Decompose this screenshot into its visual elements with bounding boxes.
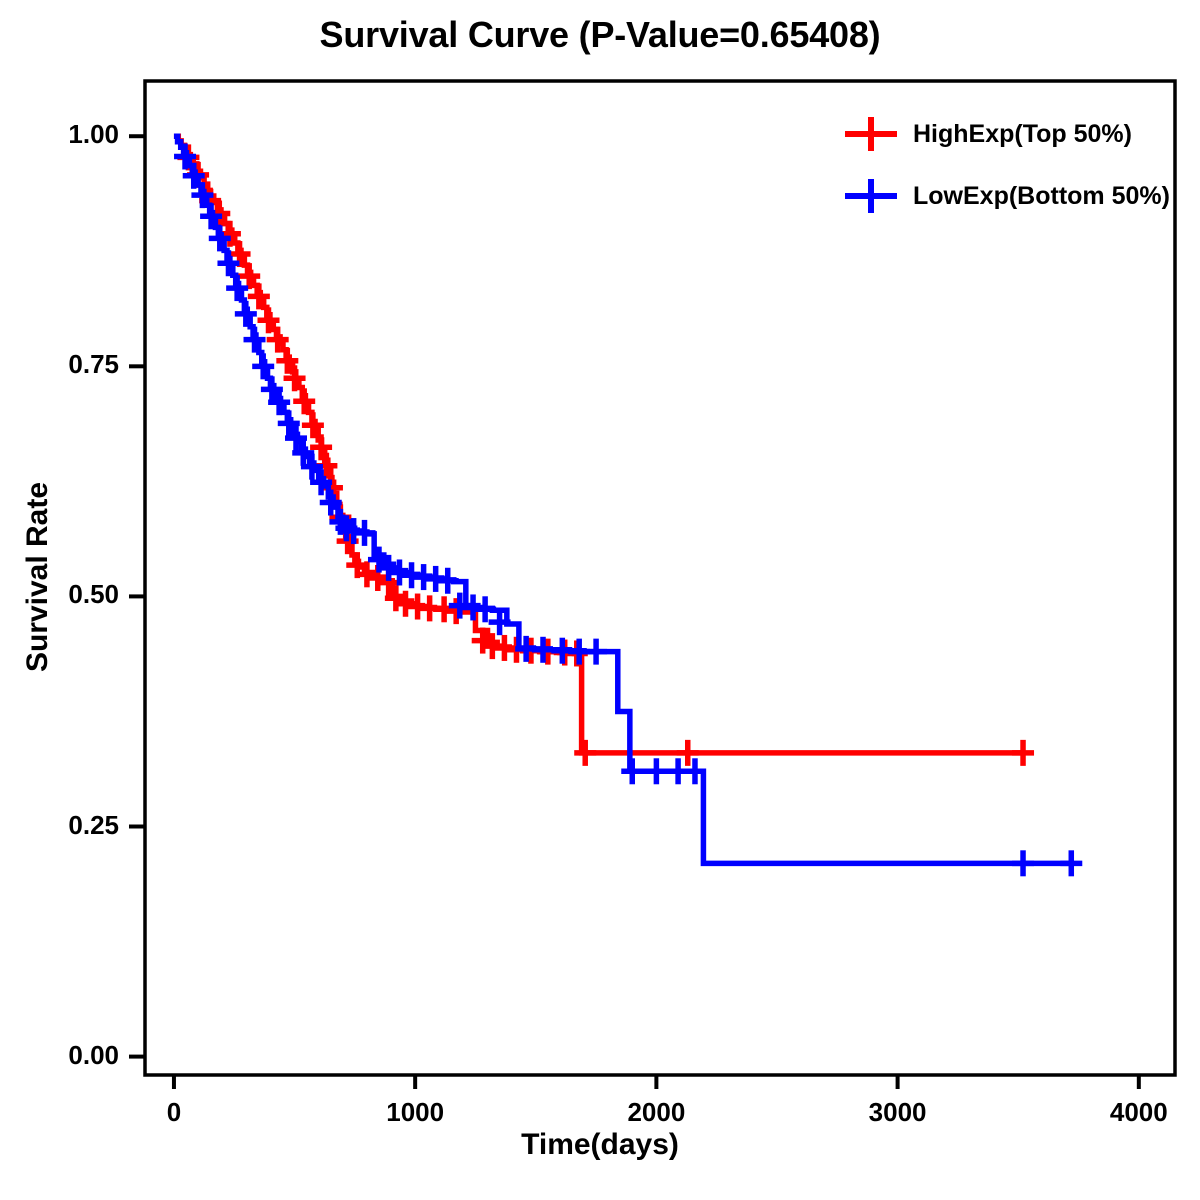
legend-label-low: LowExp(Bottom 50%) — [913, 182, 1170, 211]
legend-label-high: HighExp(Top 50%) — [913, 120, 1132, 149]
x-axis-tick-label: 1000 — [345, 1097, 485, 1128]
y-axis-tick-label: 1.00 — [29, 119, 119, 150]
y-axis-tick-label: 0.25 — [29, 810, 119, 841]
plus-marker-icon — [845, 117, 897, 151]
plus-marker-icon — [845, 179, 897, 213]
legend-item-low[interactable]: LowExp(Bottom 50%) — [845, 174, 1170, 218]
x-axis-tick-label: 2000 — [586, 1097, 726, 1128]
x-axis-tick-label: 4000 — [1069, 1097, 1200, 1128]
legend-item-high[interactable]: HighExp(Top 50%) — [845, 112, 1170, 156]
y-axis-tick-label: 0.00 — [29, 1040, 119, 1071]
y-axis-tick-label: 0.50 — [29, 579, 119, 610]
x-axis-tick-label: 0 — [104, 1097, 244, 1128]
x-axis-tick-label: 3000 — [828, 1097, 968, 1128]
y-axis-tick-label: 0.75 — [29, 349, 119, 380]
survival-curve-chart: Survival Curve (P-Value=0.65408) Surviva… — [0, 0, 1200, 1200]
legend: HighExp(Top 50%) LowExp(Bottom 50%) — [845, 112, 1170, 236]
